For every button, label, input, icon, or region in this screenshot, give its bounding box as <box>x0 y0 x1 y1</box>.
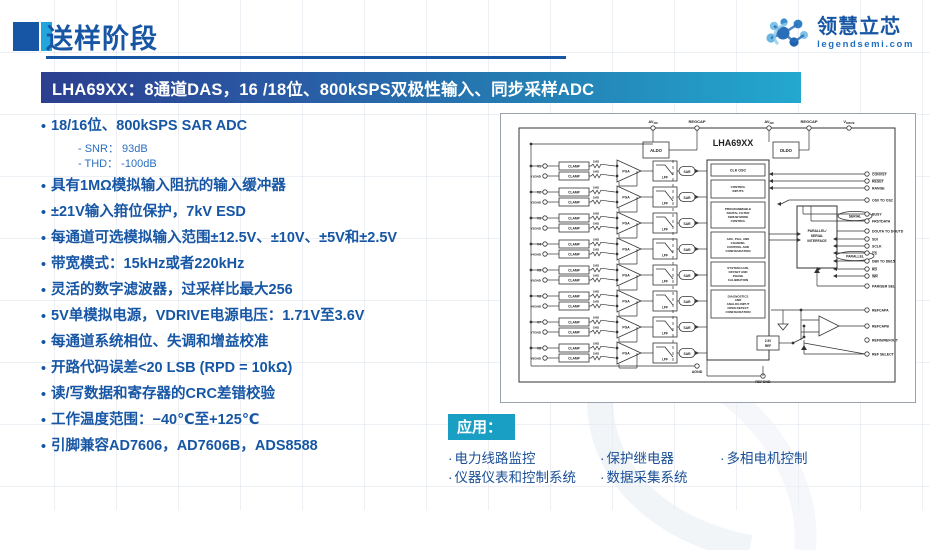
application-item: 电力线路监控 <box>448 449 600 468</box>
feature-item-text: 开路代码误差<20 LSB (RPD = 10kΩ) <box>51 358 292 379</box>
feature-list: •18/16位、800kSPS SAR ADC- SNR： 93dB- THD：… <box>36 116 456 462</box>
application-item: 保护继电器 <box>600 449 720 468</box>
svg-text:PGA: PGA <box>622 274 630 278</box>
svg-text:1MΩ: 1MΩ <box>593 169 600 173</box>
bullet-dot-icon: • <box>36 202 51 223</box>
svg-text:1MΩ: 1MΩ <box>593 273 600 277</box>
svg-text:CLAMP: CLAMP <box>568 278 581 282</box>
svg-text:V2: V2 <box>537 190 541 194</box>
svg-text:CONTROL: CONTROL <box>731 219 746 223</box>
svg-text:PARALLEL: PARALLEL <box>846 255 864 259</box>
svg-text:DB0 TO DB15: DB0 TO DB15 <box>872 259 895 263</box>
bullet-dot-icon: • <box>36 306 51 327</box>
svg-text:V1: V1 <box>537 164 541 168</box>
svg-text:CONFIGURATION: CONFIGURATION <box>725 249 750 253</box>
header-underline <box>46 56 566 59</box>
svg-text:SAR: SAR <box>684 300 692 304</box>
svg-text:REFCAPB: REFCAPB <box>872 324 889 328</box>
svg-text:V4: V4 <box>537 242 541 246</box>
svg-text:AGND: AGND <box>692 370 703 374</box>
application-row: 仪器仪表和控制系统数据采集系统 <box>448 468 918 487</box>
svg-text:AVDD: AVDD <box>648 119 657 125</box>
svg-text:DLDO: DLDO <box>780 148 793 153</box>
feature-sub-item: - SNR： 93dB <box>78 142 456 157</box>
svg-text:1MΩ: 1MΩ <box>593 237 600 241</box>
svg-text:PGA: PGA <box>622 248 630 252</box>
feature-item: •每通道可选模拟输入范围±12.5V、±10V、±5V和±2.5V <box>36 228 456 249</box>
bullet-dot-icon: • <box>36 358 51 379</box>
svg-text:SCLK: SCLK <box>872 244 882 248</box>
feature-item-text: 每通道可选模拟输入范围±12.5V、±10V、±5V和±2.5V <box>51 228 397 249</box>
feature-item: •5V单模拟电源，VDRIVE电源电压：1.71V至3.6V <box>36 306 456 327</box>
feature-item: •具有1MΩ模拟输入阻抗的输入缓冲器 <box>36 176 456 197</box>
feature-item-text: 18/16位、800kSPS SAR ADC <box>51 116 247 137</box>
svg-text:REFCAPA: REFCAPA <box>872 308 889 312</box>
svg-text:CLK OSC: CLK OSC <box>730 168 747 172</box>
svg-text:WR: WR <box>872 274 878 278</box>
applications-section: 应用： 电力线路监控保护继电器多相电机控制仪器仪表和控制系统数据采集系统 <box>448 414 918 487</box>
application-row: 电力线路监控保护继电器多相电机控制 <box>448 449 918 468</box>
feature-item-text: 5V单模拟电源，VDRIVE电源电压：1.71V至3.6V <box>51 306 364 327</box>
svg-text:PGA: PGA <box>622 352 630 356</box>
svg-text:V8: V8 <box>537 346 541 350</box>
svg-text:1MΩ: 1MΩ <box>593 211 600 215</box>
svg-text:PAR/SER SEL: PAR/SER SEL <box>872 284 896 288</box>
feature-item: •灵活的数字滤波器，过采样比最大256 <box>36 280 456 301</box>
feature-item: •开路代码误差<20 LSB (RPD = 10kΩ) <box>36 358 456 379</box>
bullet-dot-icon: • <box>36 384 51 405</box>
svg-text:REF: REF <box>765 344 771 348</box>
svg-text:1MΩ: 1MΩ <box>593 247 600 251</box>
applications-rows: 电力线路监控保护继电器多相电机控制仪器仪表和控制系统数据采集系统 <box>448 449 918 487</box>
svg-text:V7: V7 <box>537 320 541 324</box>
svg-text:CLAMP: CLAMP <box>568 356 581 360</box>
svg-text:LPF: LPF <box>662 306 668 310</box>
feature-item-text: 带宽模式：15kHz或者220kHz <box>51 254 244 275</box>
svg-text:REFIN/REFOUT: REFIN/REFOUT <box>872 338 899 342</box>
svg-text:1MΩ: 1MΩ <box>593 325 600 329</box>
svg-text:LPF: LPF <box>662 176 668 180</box>
svg-text:LHA69XX: LHA69XX <box>713 138 754 148</box>
svg-text:CLAMP: CLAMP <box>568 242 581 246</box>
svg-text:CS: CS <box>872 251 878 255</box>
product-title-band: LHA69XX：8通道DAS，16 /18位、800kSPS双极性输入、同步采样… <box>41 72 801 103</box>
svg-text:V3: V3 <box>537 216 541 220</box>
svg-text:PGA: PGA <box>622 170 630 174</box>
bullet-dot-icon: • <box>36 176 51 197</box>
svg-text:CLAMP: CLAMP <box>568 320 581 324</box>
bullet-dot-icon: • <box>36 254 51 275</box>
svg-text:1MΩ: 1MΩ <box>593 341 600 345</box>
svg-text:CLAMP: CLAMP <box>568 346 581 350</box>
svg-text:SAR: SAR <box>684 170 692 174</box>
svg-text:CLAMP: CLAMP <box>568 226 581 230</box>
bullet-dot-icon: • <box>36 116 51 137</box>
block-diagram-svg: LHA69XXAVDDREGCAPAVDDREGCAPVDRIVEALDODLD… <box>501 114 913 400</box>
svg-text:V6: V6 <box>537 294 541 298</box>
svg-text:V8GND: V8GND <box>530 356 541 360</box>
feature-sub-list: - SNR： 93dB- THD： -100dB <box>36 142 456 172</box>
svg-text:1MΩ: 1MΩ <box>593 195 600 199</box>
bullet-dot-icon: • <box>36 228 51 249</box>
svg-text:SDI: SDI <box>872 237 878 241</box>
svg-text:SAR: SAR <box>684 352 692 356</box>
product-title-text: LHA69XX：8通道DAS，16 /18位、800kSPS双极性输入、同步采样… <box>41 76 594 100</box>
svg-text:V3GND: V3GND <box>530 226 541 230</box>
molecule-network-icon <box>765 18 811 48</box>
bullet-dot-icon: • <box>36 410 51 431</box>
bullet-dot-icon: • <box>36 436 51 457</box>
svg-text:LPF: LPF <box>662 254 668 258</box>
logo-domain: legendsemi.com <box>817 40 914 50</box>
svg-text:V6GND: V6GND <box>530 304 541 308</box>
application-item: 仪器仪表和控制系统 <box>448 468 600 487</box>
svg-text:CLAMP: CLAMP <box>568 330 581 334</box>
slide-header: 送样阶段 领慧立芯 legendsemi.com <box>0 0 930 62</box>
svg-text:2.5V: 2.5V <box>765 339 772 343</box>
svg-text:CLAMP: CLAMP <box>568 164 581 168</box>
feature-item-text: ±21V输入箝位保护，7kV ESD <box>51 202 246 223</box>
svg-text:LPF: LPF <box>662 332 668 336</box>
svg-text:RESET: RESET <box>872 179 885 183</box>
svg-text:CLAMP: CLAMP <box>568 216 581 220</box>
svg-text:RANGE: RANGE <box>872 186 885 190</box>
svg-text:DOUTA TO DOUTD: DOUTA TO DOUTD <box>872 229 904 233</box>
header-accent-square <box>13 22 39 51</box>
svg-text:LPF: LPF <box>662 202 668 206</box>
feature-item: •工作温度范围：−40℃至+125℃ <box>36 410 456 431</box>
svg-text:VDRIVE: VDRIVE <box>843 119 854 125</box>
svg-text:1MΩ: 1MΩ <box>593 159 600 163</box>
svg-text:CALIBRATION: CALIBRATION <box>728 278 748 282</box>
svg-text:CLAMP: CLAMP <box>568 252 581 256</box>
feature-item-text: 工作温度范围：−40℃至+125℃ <box>51 410 259 431</box>
svg-text:1MΩ: 1MΩ <box>593 263 600 267</box>
svg-text:V5GND: V5GND <box>530 278 541 282</box>
svg-text:PARALLEL/: PARALLEL/ <box>808 229 827 233</box>
feature-sub-item: - THD： -100dB <box>78 157 456 172</box>
svg-text:INPUTS: INPUTS <box>732 189 743 193</box>
feature-item-text: 引脚兼容AD7606，AD7606B，ADS8588 <box>51 436 318 457</box>
bullet-dot-icon: • <box>36 332 51 353</box>
svg-text:LPF: LPF <box>662 280 668 284</box>
svg-text:INTERFACE: INTERFACE <box>807 239 827 243</box>
svg-text:1MΩ: 1MΩ <box>593 185 600 189</box>
applications-label: 应用： <box>448 414 515 440</box>
svg-text:CLAMP: CLAMP <box>568 174 581 178</box>
svg-text:1MΩ: 1MΩ <box>593 289 600 293</box>
svg-text:RD: RD <box>872 267 878 271</box>
svg-text:SAR: SAR <box>684 248 692 252</box>
block-diagram: LHA69XXAVDDREGCAPAVDDREGCAPVDRIVEALDODLD… <box>500 113 916 403</box>
feature-item-text: 读/写数据和寄存器的CRC差错校验 <box>51 384 275 405</box>
page-title: 送样阶段 <box>46 17 158 56</box>
svg-text:CLAMP: CLAMP <box>568 200 581 204</box>
svg-text:SAR: SAR <box>684 222 692 226</box>
svg-text:BUSY: BUSY <box>872 212 882 216</box>
svg-text:SAR: SAR <box>684 196 692 200</box>
feature-item: •±21V输入箝位保护，7kV ESD <box>36 202 456 223</box>
feature-item: •18/16位、800kSPS SAR ADC <box>36 116 456 137</box>
svg-text:1MΩ: 1MΩ <box>593 351 600 355</box>
svg-text:CONFIGURATION: CONFIGURATION <box>725 310 750 314</box>
feature-item: •每通道系统相位、失调和增益校准 <box>36 332 456 353</box>
svg-text:PGA: PGA <box>622 300 630 304</box>
svg-text:REGCAP: REGCAP <box>800 119 817 124</box>
company-logo: 领慧立芯 legendsemi.com <box>765 13 914 53</box>
svg-text:V7GND: V7GND <box>530 330 541 334</box>
svg-text:REFGND: REFGND <box>755 380 771 384</box>
feature-item-text: 具有1MΩ模拟输入阻抗的输入缓冲器 <box>51 176 286 197</box>
svg-text:ALDO: ALDO <box>650 148 663 153</box>
feature-item: •引脚兼容AD7606，AD7606B，ADS8588 <box>36 436 456 457</box>
svg-text:LPF: LPF <box>662 228 668 232</box>
svg-text:FRSTDATA: FRSTDATA <box>872 219 891 223</box>
application-item: 多相电机控制 <box>720 449 808 468</box>
svg-text:V5: V5 <box>537 268 541 272</box>
svg-text:PGA: PGA <box>622 222 630 226</box>
feature-item: •带宽模式：15kHz或者220kHz <box>36 254 456 275</box>
svg-text:REGCAP: REGCAP <box>688 119 705 124</box>
svg-text:V4GND: V4GND <box>530 252 541 256</box>
feature-item-text: 灵活的数字滤波器，过采样比最大256 <box>51 280 293 301</box>
svg-text:CLAMP: CLAMP <box>568 268 581 272</box>
application-item: 数据采集系统 <box>600 468 688 487</box>
svg-text:CLAMP: CLAMP <box>568 304 581 308</box>
svg-text:1MΩ: 1MΩ <box>593 315 600 319</box>
logo-company-name-cn: 领慧立芯 <box>817 17 914 37</box>
svg-text:1MΩ: 1MΩ <box>593 221 600 225</box>
svg-text:LPF: LPF <box>662 358 668 362</box>
feature-item-text: 每通道系统相位、失调和增益校准 <box>51 332 269 353</box>
svg-text:SERIAL: SERIAL <box>849 215 861 219</box>
svg-text:OS0 TO OS2: OS0 TO OS2 <box>872 198 893 202</box>
svg-text:CONVST: CONVST <box>872 172 887 176</box>
svg-text:SAR: SAR <box>684 326 692 330</box>
bullet-dot-icon: • <box>36 280 51 301</box>
svg-text:1MΩ: 1MΩ <box>593 299 600 303</box>
svg-text:V1GND: V1GND <box>530 174 541 178</box>
svg-text:CLAMP: CLAMP <box>568 190 581 194</box>
svg-text:SERIAL: SERIAL <box>811 234 823 238</box>
svg-text:V2GND: V2GND <box>530 200 541 204</box>
svg-text:PGA: PGA <box>622 326 630 330</box>
svg-text:REF SELECT: REF SELECT <box>872 352 895 356</box>
svg-text:SAR: SAR <box>684 274 692 278</box>
svg-text:CLAMP: CLAMP <box>568 294 581 298</box>
svg-text:PGA: PGA <box>622 196 630 200</box>
feature-item: •读/写数据和寄存器的CRC差错校验 <box>36 384 456 405</box>
svg-text:AVDD: AVDD <box>764 119 773 125</box>
